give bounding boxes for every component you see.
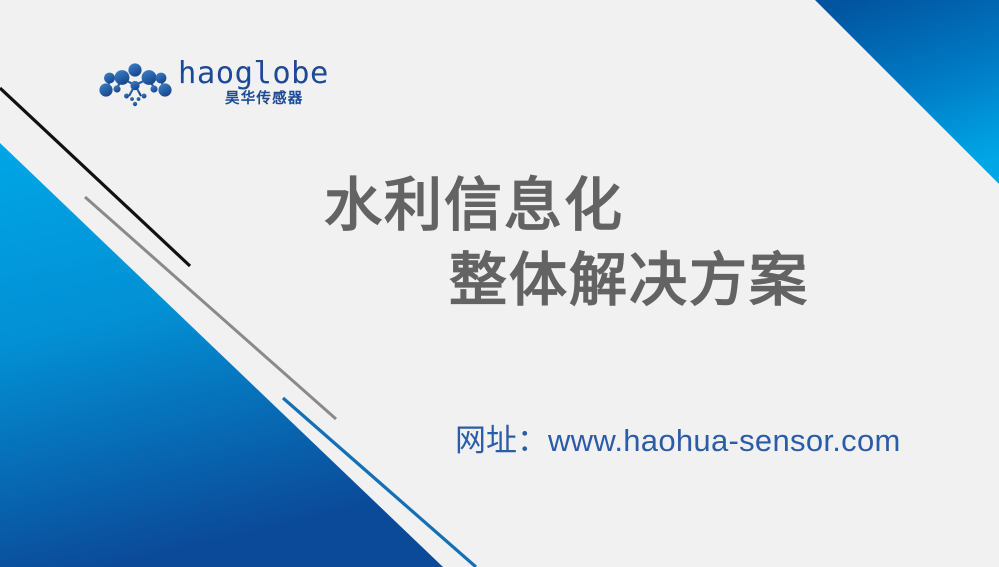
title-slide: haoglobe 昊华传感器 水利信息化 整体解决方案 网址：www.haohu… [0,0,999,567]
haoglobe-network-cluster-logo-icon [98,58,172,110]
logo-brand-name: haoglobe [178,58,329,90]
logo-brand-subtitle: 昊华传感器 [225,91,304,107]
logo-wordmark: haoglobe 昊华传感器 [178,58,310,114]
website-line: 网址：www.haohua-sensor.com [455,420,901,462]
website-url[interactable]: www.haohua-sensor.com [548,423,901,458]
company-logo: haoglobe 昊华传感器 [98,58,313,116]
slide-title: 水利信息化 整体解决方案 [0,168,999,318]
title-line-2: 整体解决方案 [0,243,999,318]
title-line-1: 水利信息化 [0,168,999,243]
website-label: 网址： [455,423,548,458]
